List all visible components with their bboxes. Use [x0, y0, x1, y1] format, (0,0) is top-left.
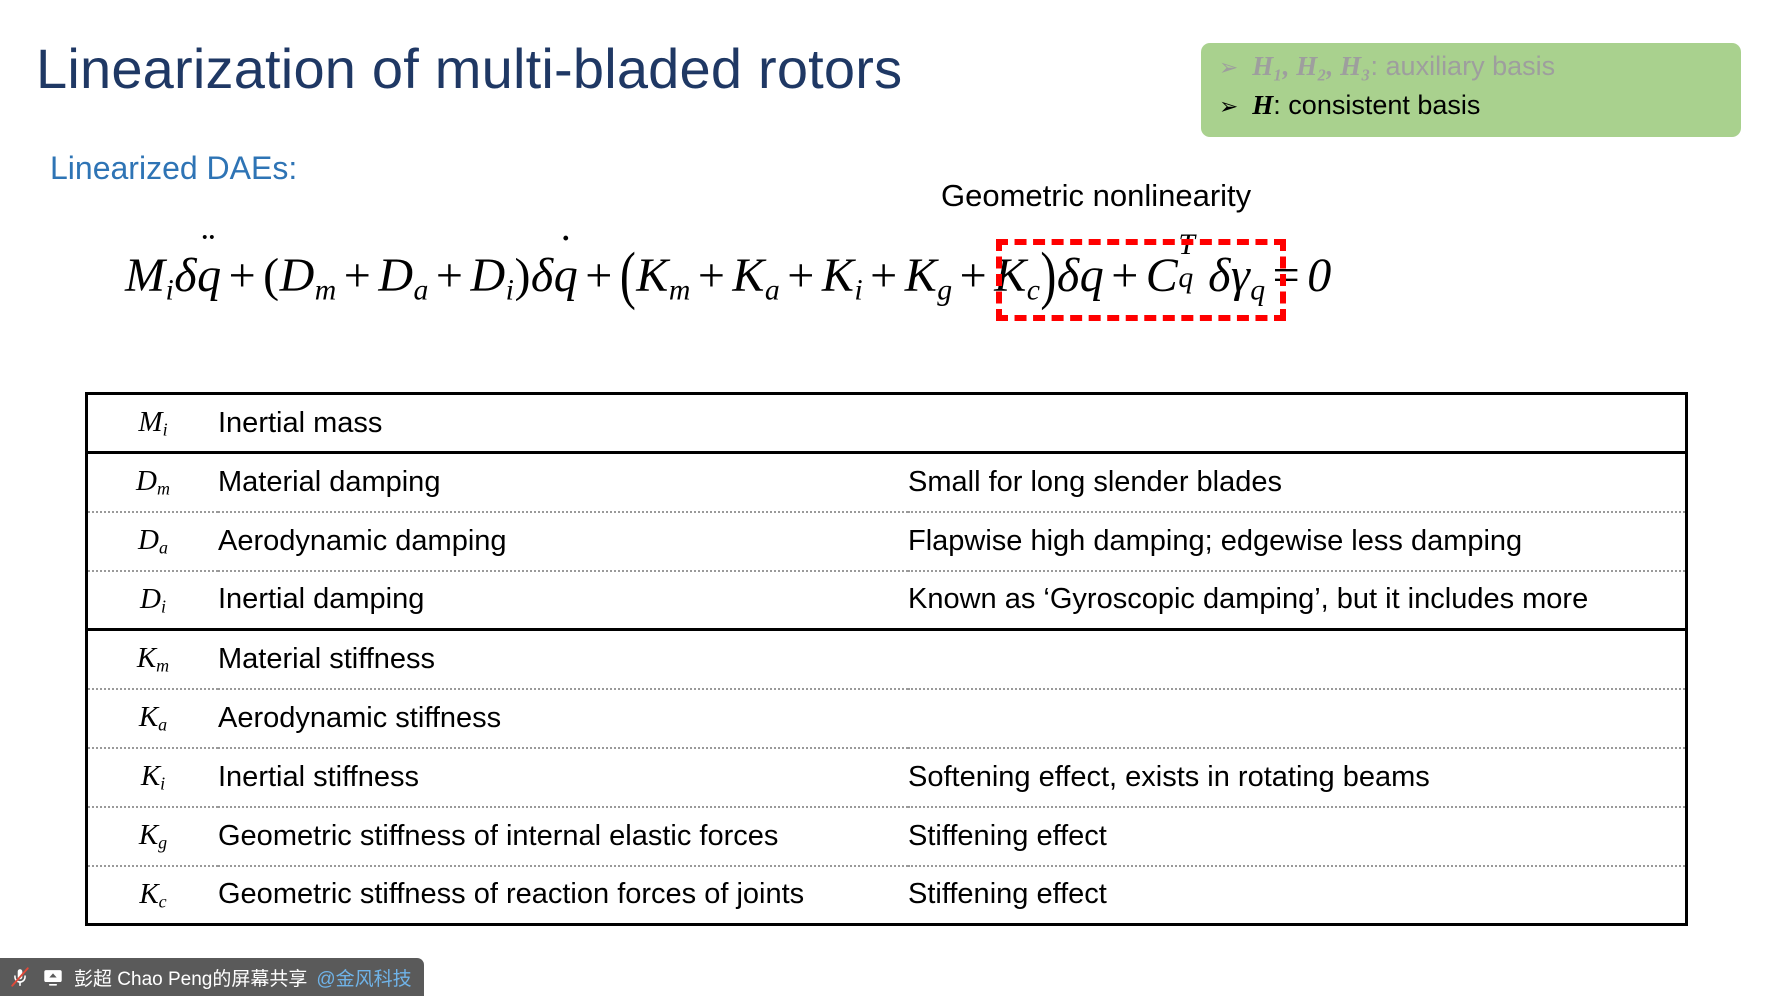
- table-cell-description: Inertial damping: [218, 571, 908, 630]
- bullet-arrow-icon: ➢: [1219, 56, 1238, 79]
- table-row: Ka Aerodynamic stiffness: [87, 689, 1687, 748]
- table-cell-note: Known as ‘Gyroscopic damping’, but it in…: [908, 571, 1687, 630]
- presentation-slide: Linearization of multi-bladed rotors Lin…: [0, 0, 1768, 996]
- table-cell-description: Inertial mass: [218, 394, 908, 453]
- eq-lparen-big: (: [620, 238, 636, 312]
- table-cell-symbol: Dm: [87, 453, 219, 512]
- table-row: Kg Geometric stiffness of internal elast…: [87, 807, 1687, 866]
- table-cell-note: Flapwise high damping; edgewise less dam…: [908, 512, 1687, 571]
- table-cell-description: Aerodynamic stiffness: [218, 689, 908, 748]
- eq-delta: δ: [1208, 249, 1231, 302]
- eq-term-Kc: Kc: [994, 249, 1040, 302]
- share-organization-label: @金风科技: [316, 964, 411, 991]
- microphone-muted-icon[interactable]: [8, 965, 32, 989]
- table-cell-symbol: Da: [87, 512, 219, 571]
- callout-text-auxiliary: : auxiliary basis: [1371, 51, 1556, 81]
- eq-term-Km: Km: [636, 249, 691, 302]
- eq-plus: +: [429, 249, 471, 302]
- table-cell-note: [908, 394, 1687, 453]
- eq-term-Mi: Mi: [125, 249, 174, 302]
- eq-zero: 0: [1307, 249, 1332, 302]
- screen-share-status-bar[interactable]: 彭超 Chao Peng的屏幕共享 @金风科技: [0, 958, 424, 996]
- table-cell-note: [908, 630, 1687, 689]
- table-cell-note: Softening effect, exists in rotating bea…: [908, 748, 1687, 807]
- eq-plus: +: [863, 249, 905, 302]
- eq-plus: +: [578, 249, 620, 302]
- eq-q-ddot: q: [197, 248, 222, 303]
- table-cell-symbol: Ki: [87, 748, 219, 807]
- eq-q: q: [1080, 249, 1105, 302]
- table-cell-description: Geometric stiffness of reaction forces o…: [218, 866, 908, 925]
- eq-delta: δ: [1057, 249, 1080, 302]
- eq-term-Kg: Kg: [905, 249, 953, 302]
- eq-term-Ki: Ki: [822, 249, 863, 302]
- geometric-nonlinearity-label: Geometric nonlinearity: [941, 178, 1251, 214]
- eq-plus: +: [222, 249, 264, 302]
- callout-text-consistent: : consistent basis: [1273, 90, 1480, 120]
- table-cell-description: Geometric stiffness of internal elastic …: [218, 807, 908, 866]
- eq-lparen: (: [263, 249, 279, 302]
- table-row: Km Material stiffness: [87, 630, 1687, 689]
- table-row: Mi Inertial mass: [87, 394, 1687, 453]
- table-row: Di Inertial damping Known as ‘Gyroscopic…: [87, 571, 1687, 630]
- table-cell-symbol: Km: [87, 630, 219, 689]
- screen-share-icon[interactable]: [41, 965, 65, 989]
- callout-line-consistent-basis: ➢ H: consistent basis: [1201, 90, 1741, 129]
- table-cell-symbol: Kc: [87, 866, 219, 925]
- eq-rparen: ): [514, 249, 530, 302]
- eq-term-Cq: CTq: [1146, 249, 1208, 302]
- table-cell-description: Aerodynamic damping: [218, 512, 908, 571]
- slide-subtitle: Linearized DAEs:: [50, 150, 297, 187]
- table-cell-description: Inertial stiffness: [218, 748, 908, 807]
- eq-rparen-big: ): [1040, 238, 1056, 312]
- share-presenter-label: 彭超 Chao Peng的屏幕共享: [74, 964, 307, 991]
- table-row: Ki Inertial stiffness Softening effect, …: [87, 748, 1687, 807]
- callout-symbols-auxiliary: H₁, H₂, H₃: [1252, 51, 1370, 81]
- eq-delta: δ: [531, 249, 554, 302]
- eq-plus: +: [337, 249, 379, 302]
- table-row: Kc Geometric stiffness of reaction force…: [87, 866, 1687, 925]
- callout-line-auxiliary-basis: ➢ H₁, H₂, H₃: auxiliary basis: [1201, 51, 1741, 90]
- table-cell-description: Material damping: [218, 453, 908, 512]
- eq-term-Da: Da: [378, 249, 429, 302]
- symbol-definition-table: Mi Inertial mass Dm Material damping Sma…: [85, 392, 1688, 926]
- eq-plus: +: [1104, 249, 1146, 302]
- table-cell-symbol: Kg: [87, 807, 219, 866]
- callout-symbols-consistent: H: [1252, 90, 1273, 120]
- eq-term-Dm: Dm: [280, 249, 337, 302]
- eq-equals: =: [1266, 249, 1308, 302]
- eq-term-Ka: Ka: [732, 249, 780, 302]
- linearized-dae-equation: Miδq+(Dm+Da+Di)δq+(Km+Ka+Ki+Kg+Kc)δq+CTq…: [125, 243, 1332, 307]
- table-cell-symbol: Mi: [87, 394, 219, 453]
- page-title: Linearization of multi-bladed rotors: [36, 36, 902, 101]
- eq-delta: δ: [174, 249, 197, 302]
- table-row: Da Aerodynamic damping Flapwise high dam…: [87, 512, 1687, 571]
- bullet-arrow-icon: ➢: [1219, 95, 1238, 118]
- table-cell-note: Stiffening effect: [908, 807, 1687, 866]
- table-cell-note: Stiffening effect: [908, 866, 1687, 925]
- table-cell-description: Material stiffness: [218, 630, 908, 689]
- table-cell-note: Small for long slender blades: [908, 453, 1687, 512]
- table-row: Dm Material damping Small for long slend…: [87, 453, 1687, 512]
- eq-plus: +: [780, 249, 822, 302]
- table-cell-symbol: Di: [87, 571, 219, 630]
- basis-callout-box: ➢ H₁, H₂, H₃: auxiliary basis ➢ H: consi…: [1201, 43, 1741, 137]
- eq-plus: +: [691, 249, 733, 302]
- eq-term-Di: Di: [471, 249, 515, 302]
- eq-plus: +: [953, 249, 995, 302]
- eq-q-dot: q: [554, 248, 579, 303]
- table-cell-note: [908, 689, 1687, 748]
- table-cell-symbol: Ka: [87, 689, 219, 748]
- eq-term-gamma-q: γq: [1231, 249, 1266, 302]
